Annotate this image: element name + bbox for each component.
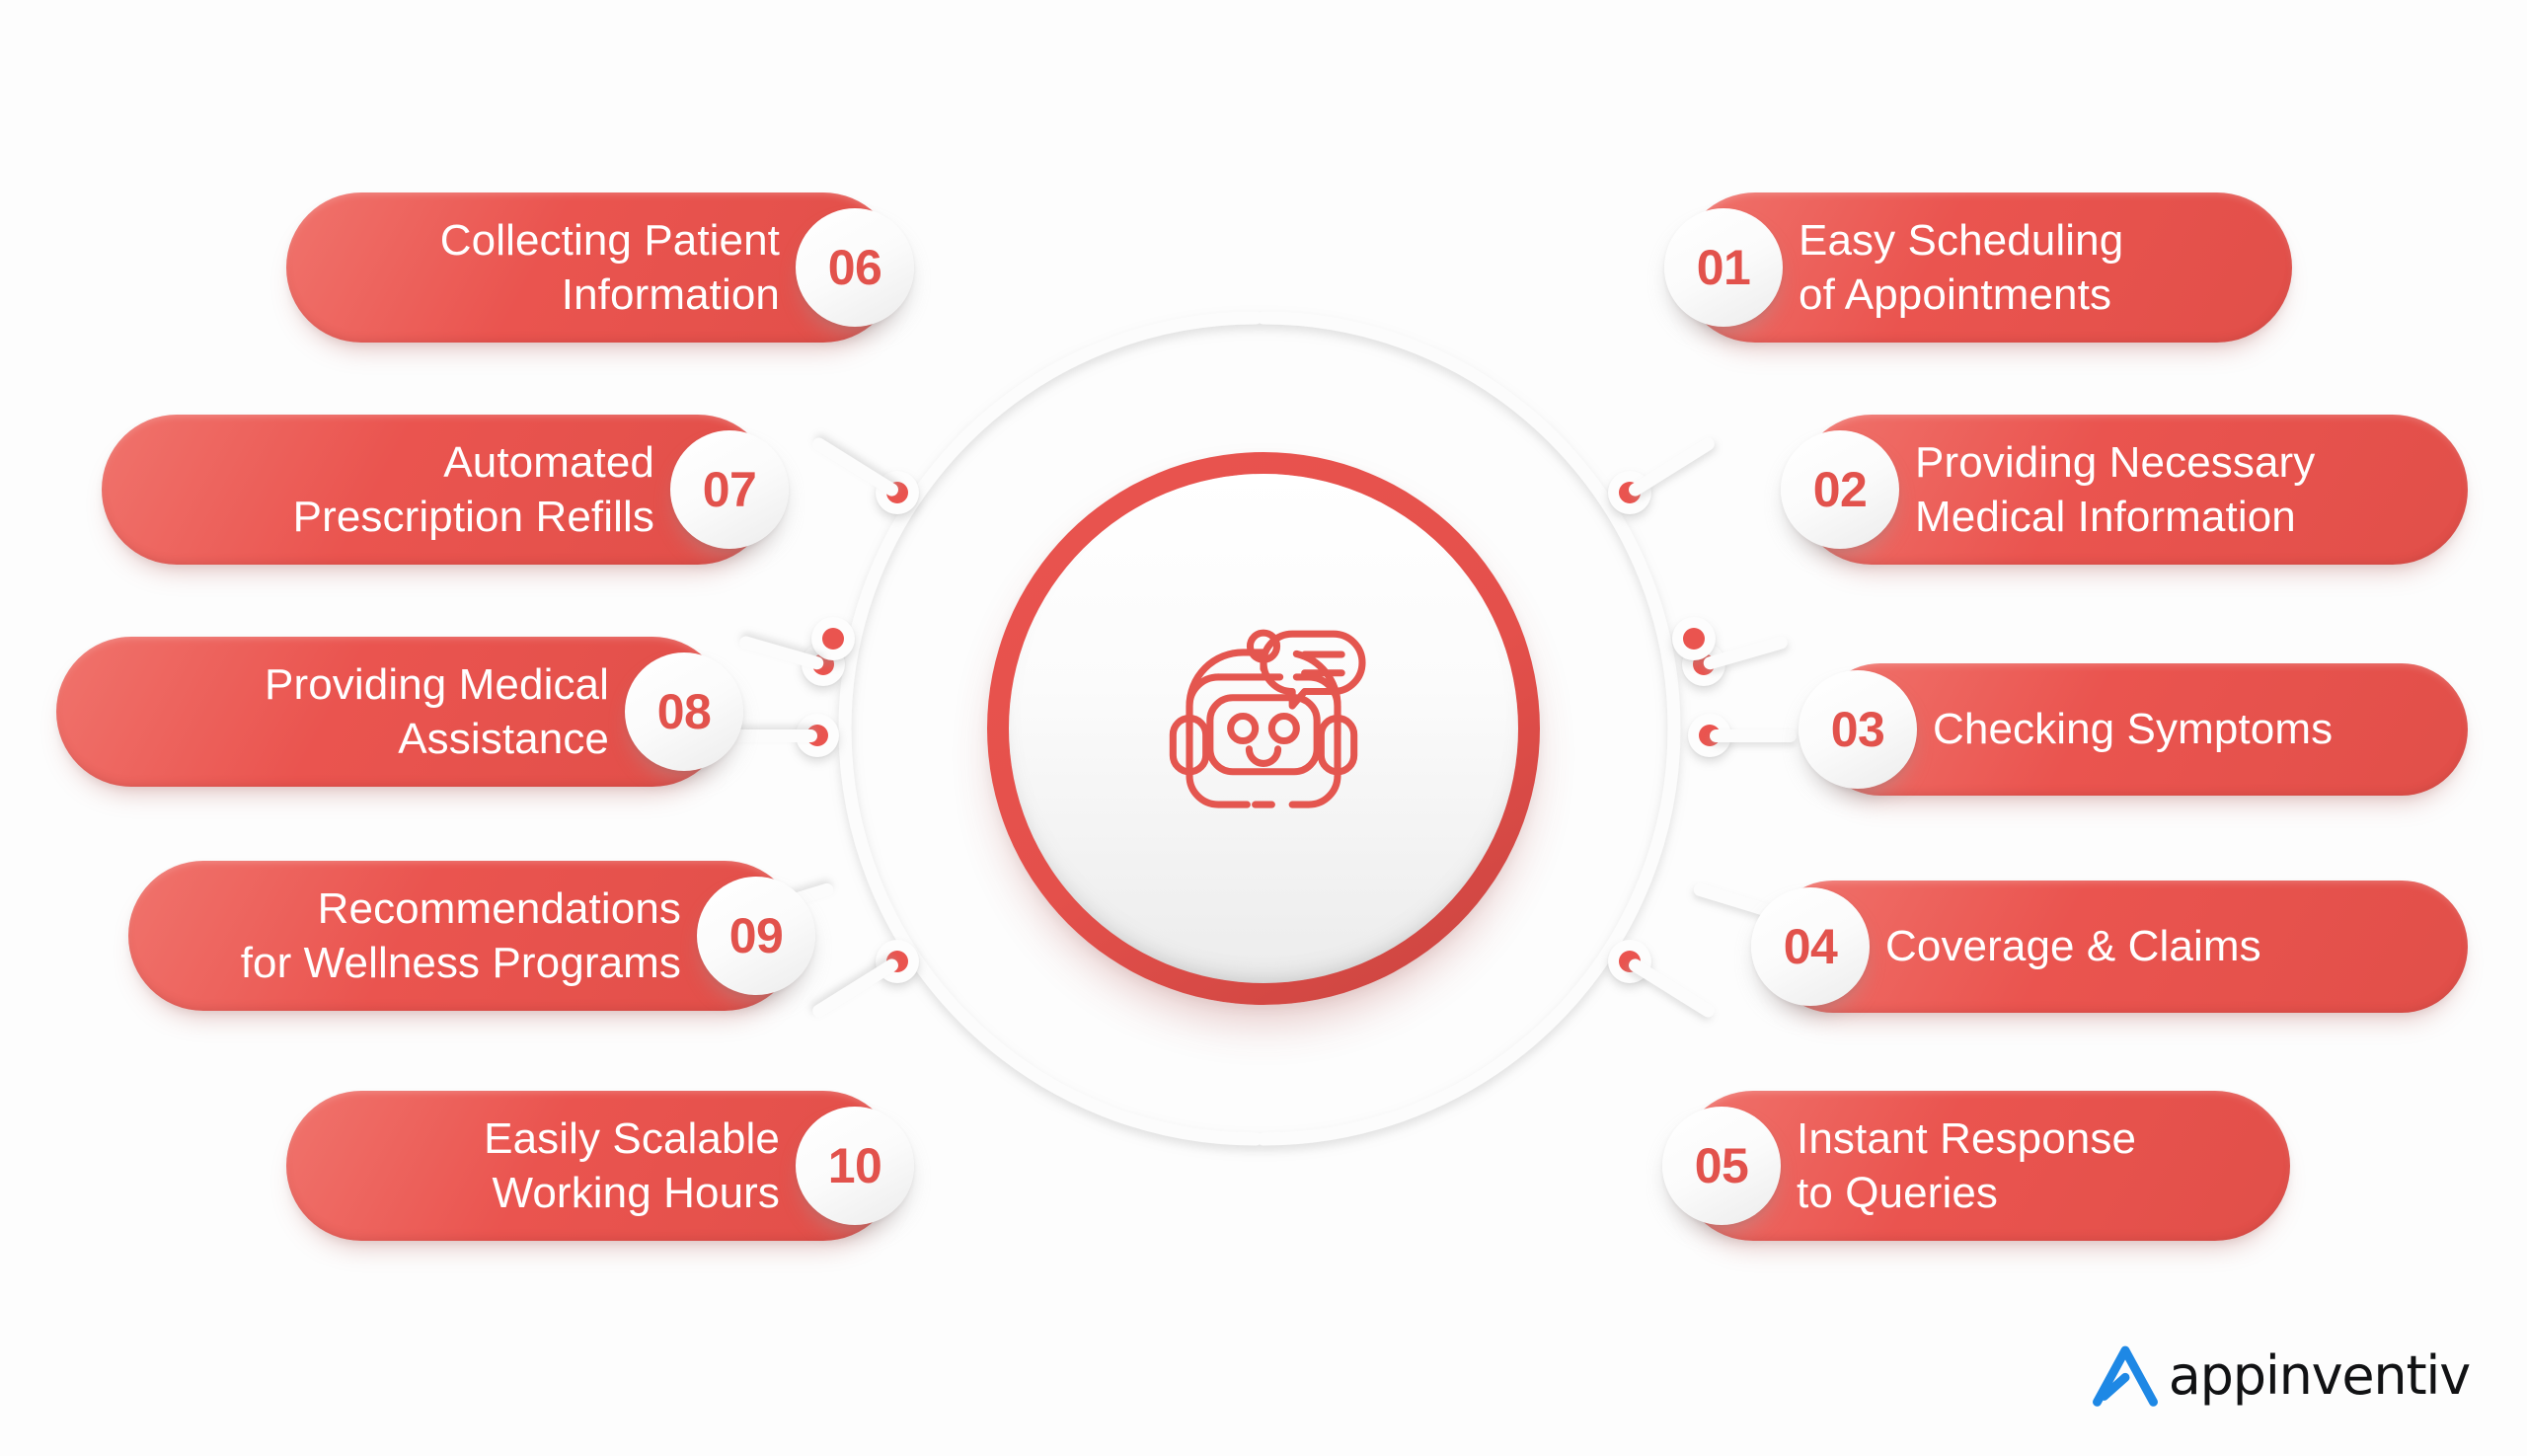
item-row-06[interactable]: Collecting Patient Information 06 bbox=[286, 192, 898, 343]
item-row-03[interactable]: 03 Checking Symptoms bbox=[1814, 663, 2468, 796]
item-label-10: Easily Scalable Working Hours bbox=[484, 1111, 780, 1221]
item-row-01[interactable]: 01 Easy Scheduling of Appointments bbox=[1680, 192, 2292, 343]
item-number-06: 06 bbox=[828, 239, 882, 296]
item-badge-07: 07 bbox=[670, 430, 789, 549]
appinventiv-a-mark bbox=[2088, 1338, 2163, 1413]
item-pill-07[interactable]: Automated Prescription Refills 07 bbox=[102, 415, 773, 565]
item-number-04: 04 bbox=[1784, 918, 1838, 975]
item-number-03: 03 bbox=[1831, 701, 1885, 758]
item-label-07: Automated Prescription Refills bbox=[293, 435, 654, 545]
item-row-05[interactable]: 05 Instant Response to Queries bbox=[1678, 1091, 2290, 1241]
item-badge-05: 05 bbox=[1662, 1107, 1781, 1225]
link-line-03 bbox=[1710, 729, 1797, 742]
item-row-04[interactable]: 04 Coverage & Claims bbox=[1767, 881, 2468, 1013]
item-row-08[interactable]: Providing Medical Assistance 08 bbox=[56, 637, 727, 787]
item-badge-10: 10 bbox=[796, 1107, 914, 1225]
item-label-08: Providing Medical Assistance bbox=[265, 657, 609, 767]
item-pill-04[interactable]: 04 Coverage & Claims bbox=[1767, 881, 2468, 1013]
item-pill-09[interactable]: Recommendations for Wellness Programs 09 bbox=[128, 861, 800, 1011]
item-label-06: Collecting Patient Information bbox=[440, 213, 780, 323]
inner-disc bbox=[1009, 474, 1518, 983]
chatbot-robot-icon bbox=[1140, 605, 1387, 852]
connector-dot-09 bbox=[811, 617, 855, 660]
item-label-02: Providing Necessary Medical Information bbox=[1915, 435, 2315, 545]
appinventiv-logo[interactable]: appinventiv bbox=[2088, 1338, 2470, 1413]
item-label-05: Instant Response to Queries bbox=[1797, 1111, 2136, 1221]
connector-dot-04 bbox=[1672, 617, 1716, 660]
item-row-07[interactable]: Automated Prescription Refills 07 bbox=[102, 415, 773, 565]
item-number-07: 07 bbox=[703, 461, 757, 518]
item-label-04: Coverage & Claims bbox=[1885, 919, 2261, 973]
item-pill-06[interactable]: Collecting Patient Information 06 bbox=[286, 192, 898, 343]
item-badge-08: 08 bbox=[625, 652, 743, 771]
item-number-02: 02 bbox=[1813, 461, 1868, 518]
item-number-08: 08 bbox=[657, 683, 712, 740]
item-row-09[interactable]: Recommendations for Wellness Programs 09 bbox=[128, 861, 800, 1011]
item-badge-01: 01 bbox=[1664, 208, 1783, 327]
item-number-09: 09 bbox=[729, 907, 784, 964]
item-pill-08[interactable]: Providing Medical Assistance 08 bbox=[56, 637, 727, 787]
item-pill-10[interactable]: Easily Scalable Working Hours 10 bbox=[286, 1091, 898, 1241]
item-label-01: Easy Scheduling of Appointments bbox=[1799, 213, 2123, 323]
item-badge-03: 03 bbox=[1799, 670, 1917, 789]
appinventiv-wordmark: appinventiv bbox=[2169, 1344, 2470, 1407]
item-pill-03[interactable]: 03 Checking Symptoms bbox=[1814, 663, 2468, 796]
item-row-10[interactable]: Easily Scalable Working Hours 10 bbox=[286, 1091, 898, 1241]
item-number-10: 10 bbox=[828, 1137, 882, 1194]
item-label-09: Recommendations for Wellness Programs bbox=[241, 881, 681, 991]
item-label-03: Checking Symptoms bbox=[1933, 702, 2333, 756]
item-pill-01[interactable]: 01 Easy Scheduling of Appointments bbox=[1680, 192, 2292, 343]
item-number-05: 05 bbox=[1695, 1137, 1749, 1194]
inner-red-ring bbox=[987, 452, 1540, 1005]
item-badge-06: 06 bbox=[796, 208, 914, 327]
item-pill-02[interactable]: 02 Providing Necessary Medical Informati… bbox=[1797, 415, 2468, 565]
item-badge-04: 04 bbox=[1751, 887, 1870, 1006]
item-pill-05[interactable]: 05 Instant Response to Queries bbox=[1678, 1091, 2290, 1241]
item-badge-02: 02 bbox=[1781, 430, 1899, 549]
item-number-01: 01 bbox=[1697, 239, 1751, 296]
link-line-08 bbox=[730, 729, 817, 742]
item-badge-09: 09 bbox=[697, 877, 815, 995]
item-row-02[interactable]: 02 Providing Necessary Medical Informati… bbox=[1797, 415, 2468, 565]
infographic-canvas: 01 Easy Scheduling of Appointments 02 Pr… bbox=[0, 0, 2527, 1456]
